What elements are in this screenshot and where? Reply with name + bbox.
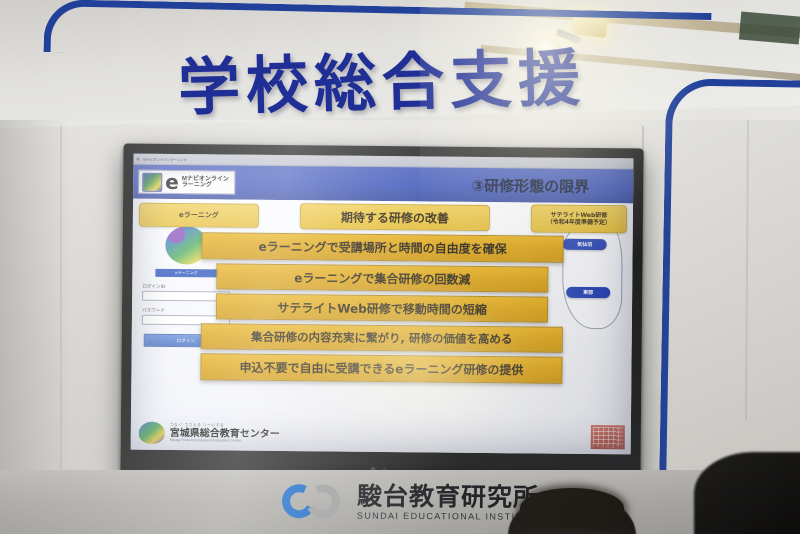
two-rings-logo-icon xyxy=(282,481,346,521)
map-pill-2[interactable]: 東部 xyxy=(566,287,610,298)
person-hair xyxy=(520,488,624,528)
leaf-logo-icon xyxy=(142,172,162,191)
slide-title: ③研修形態の限界 xyxy=(471,174,589,196)
statement-bar-5: 申込不要で自由に受講できるeラーニング研修の提供 xyxy=(200,353,562,383)
tab-elearning[interactable]: eラーニング xyxy=(139,203,259,228)
statement-bar-3: サテライトWeb研修で移動時間の短縮 xyxy=(216,293,548,322)
tv-screen: Mナビオンラインラーニング e Mナビオンライン ラーニング ③研修形態の限界 xyxy=(131,154,634,455)
wall-sign-text: 学校総合支援 xyxy=(177,47,598,119)
logo-e-letter: e xyxy=(165,174,179,190)
building-photo-icon xyxy=(591,425,625,449)
center-name-en: Miyagi Prefectural General Education Cen… xyxy=(170,439,280,444)
statement-bar-stack: eラーニングで受講場所と時間の自由度を確保 eラーニングで集合研修の回数減 サテ… xyxy=(200,232,563,383)
slide-body: eラーニング ログインID パスワード ログイン 気仙沼 xyxy=(131,199,633,455)
site-logo[interactable]: e Mナビオンライン ラーニング xyxy=(138,170,235,195)
display-tv: Mナビオンラインラーニング e Mナビオンライン ラーニング ③研修形態の限界 xyxy=(120,144,643,481)
slide-footer: つなぐ ささえる リードする 宮城県総合教育センター Miyagi Prefec… xyxy=(131,418,631,453)
statement-bar-4: 集合研修の内容充実に繋がり, 研修の価値を高める xyxy=(201,323,563,352)
tab-satellite-line-2: （令和4年度準備予定） xyxy=(547,219,611,227)
sundai-name-jp: 駿台教育研究所 xyxy=(357,483,545,512)
browser-icon xyxy=(136,157,139,160)
map-pill-1[interactable]: 気仙沼 xyxy=(563,239,607,250)
tab-training-improvement[interactable]: 期待する研修の改善 xyxy=(300,203,490,231)
wall-panel-edge xyxy=(60,126,62,526)
statement-bar-2: eラーニングで集合研修の回数減 xyxy=(216,263,548,292)
person-shoulder xyxy=(694,452,800,534)
site-header: e Mナビオンライン ラーニング ③研修形態の限界 xyxy=(133,165,633,204)
statement-bar-1: eラーニングで受講場所と時間の自由度を確保 xyxy=(201,232,563,262)
tab-satellite-web[interactable]: サテライトWeb研修 （令和4年度準備予定） xyxy=(531,204,627,233)
logo-wordmark: Mナビオンライン ラーニング xyxy=(182,176,229,189)
photo-scene: 学校総合支援 Mナビオンラインラーニング e Mナビオンライン ラーニング xyxy=(0,0,800,534)
ceiling-panel xyxy=(739,11,800,44)
logo-line-2: ラーニング xyxy=(182,182,229,189)
browser-title-text: Mナビオンラインラーニング xyxy=(143,156,187,161)
sundai-logo: 駿台教育研究所 SUNDAI EDUCATIONAL INSTITUTE xyxy=(282,481,545,523)
tab-row: eラーニング 期待する研修の改善 サテライトWeb研修 （令和4年度準備予定） xyxy=(133,202,633,233)
center-leaf-logo-icon xyxy=(139,422,165,444)
center-name-block: つなぐ ささえる リードする 宮城県総合教育センター Miyagi Prefec… xyxy=(170,423,280,443)
